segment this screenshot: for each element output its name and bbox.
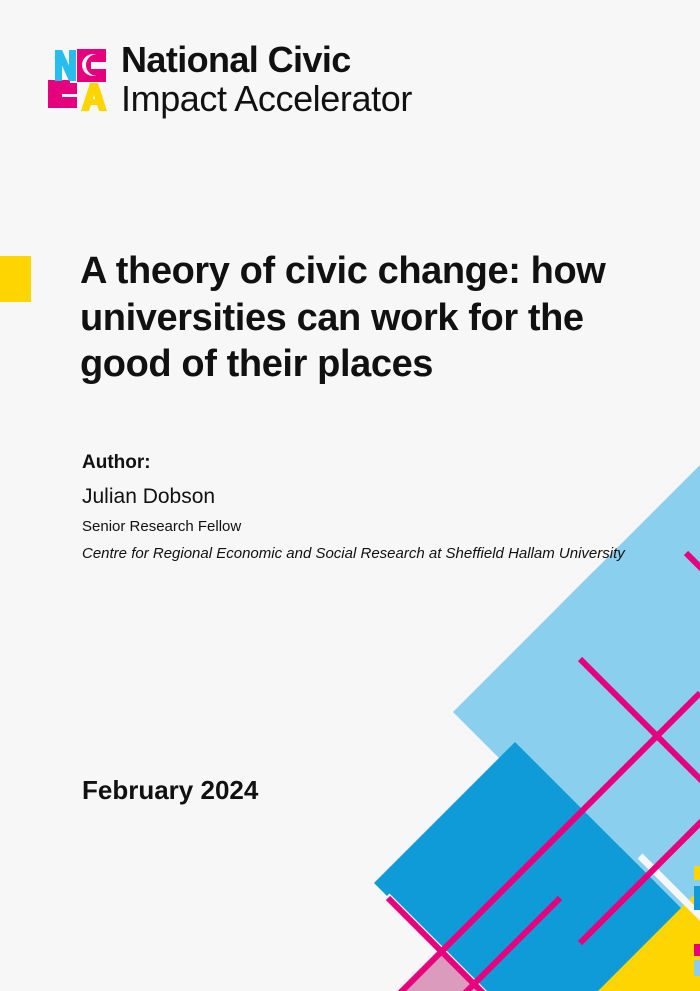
author-role: Senior Research Fellow (82, 518, 627, 535)
author-block: Author: Julian Dobson Senior Research Fe… (82, 452, 627, 564)
cover-page: National Civic Impact Accelerator A theo… (0, 0, 700, 991)
blue-diamonds (374, 742, 700, 991)
page-title: A theory of civic change: how universiti… (80, 248, 640, 388)
brand-logo: National Civic Impact Accelerator (46, 42, 412, 117)
yellow-accent-bar (0, 256, 31, 302)
publication-date: February 2024 (82, 775, 258, 806)
author-name: Julian Dobson (82, 485, 627, 509)
yellow-diamonds (453, 889, 700, 991)
brand-wordmark: National Civic Impact Accelerator (121, 42, 412, 117)
ncia-monogram-icon (46, 47, 108, 113)
author-affiliation: Centre for Regional Economic and Social … (82, 543, 627, 564)
author-label: Author: (82, 452, 627, 474)
edge-slivers (694, 866, 700, 976)
pink-diamonds (246, 953, 634, 991)
brand-line-1: National Civic (121, 42, 412, 78)
decoration-gaps (387, 856, 700, 991)
magenta-cross-lines (292, 553, 700, 991)
brand-line-2: Impact Accelerator (121, 81, 412, 117)
